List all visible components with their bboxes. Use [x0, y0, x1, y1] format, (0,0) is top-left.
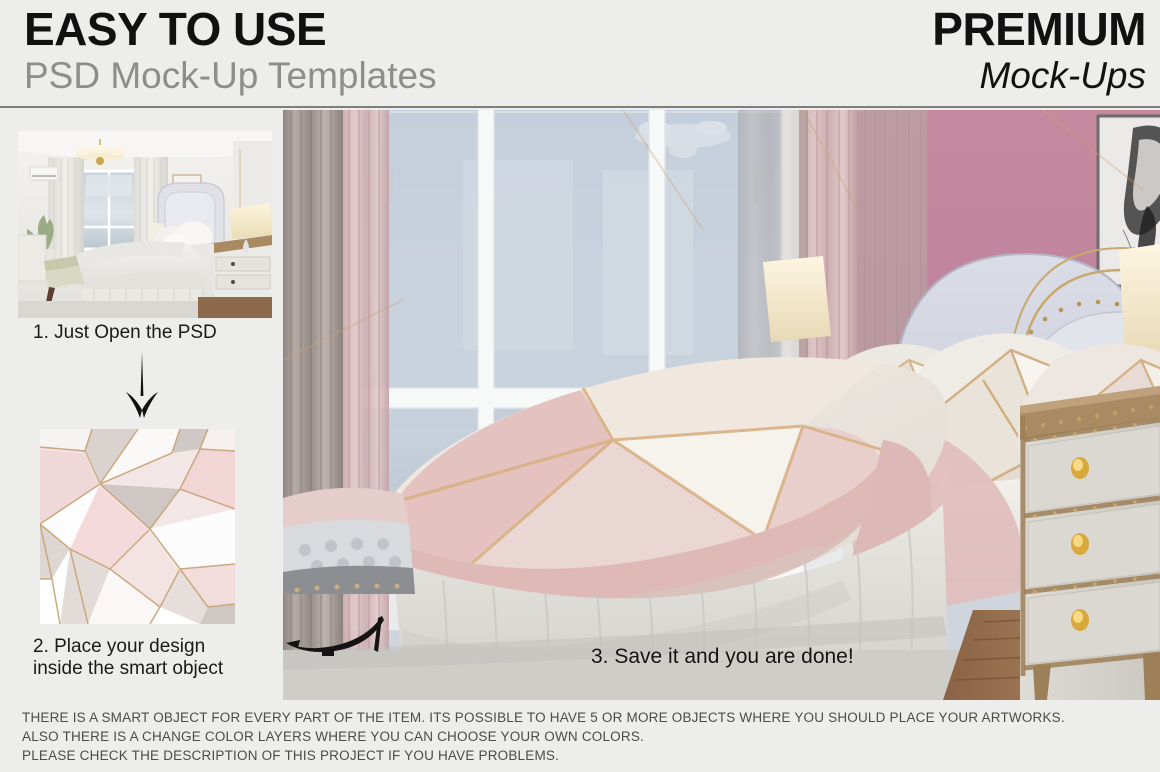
steps-sidebar: 1. Just Open the PSD: [0, 109, 283, 700]
plain-bedroom-illustration: [18, 131, 272, 318]
bedroom-scene-illustration: [283, 110, 1160, 700]
step-2-label-line2: inside the smart object: [33, 658, 223, 680]
footer-line-3: PLEASE CHECK THE DESCRIPTION OF THIS PRO…: [22, 746, 1160, 765]
premium-subtitle: Mock-Ups: [932, 54, 1146, 98]
footer-notes: THERE IS A SMART OBJECT FOR EVERY PART O…: [0, 700, 1160, 772]
header-left-block: EASY TO USE PSD Mock-Up Templates: [24, 4, 437, 98]
step-3-label: 3. Save it and you are done!: [591, 645, 854, 669]
footer-line-1: THERE IS A SMART OBJECT FOR EVERY PART O…: [22, 708, 1160, 727]
premium-title: PREMIUM: [932, 4, 1146, 54]
low-poly-pattern: [40, 429, 235, 624]
main-bedroom-mockup[interactable]: [283, 110, 1160, 700]
thumbnail-plain-bedroom[interactable]: [18, 131, 272, 318]
curved-arrow-icon: [278, 612, 388, 672]
footer-line-2: ALSO THERE IS A CHANGE COLOR LAYERS WHER…: [22, 727, 1160, 746]
page-subtitle: PSD Mock-Up Templates: [24, 54, 437, 98]
thumbnail-artwork-pattern[interactable]: [40, 429, 235, 624]
step-2-label: 2. Place your design inside the smart ob…: [33, 636, 223, 680]
arrow-down-icon: [112, 352, 172, 420]
page-header: EASY TO USE PSD Mock-Up Templates PREMIU…: [0, 0, 1160, 108]
header-right-block: PREMIUM Mock-Ups: [932, 4, 1146, 98]
page-title: EASY TO USE: [24, 4, 437, 54]
step-2-label-line1: 2. Place your design: [33, 636, 223, 658]
header-divider: [0, 106, 1160, 108]
step-1-label: 1. Just Open the PSD: [33, 322, 217, 344]
